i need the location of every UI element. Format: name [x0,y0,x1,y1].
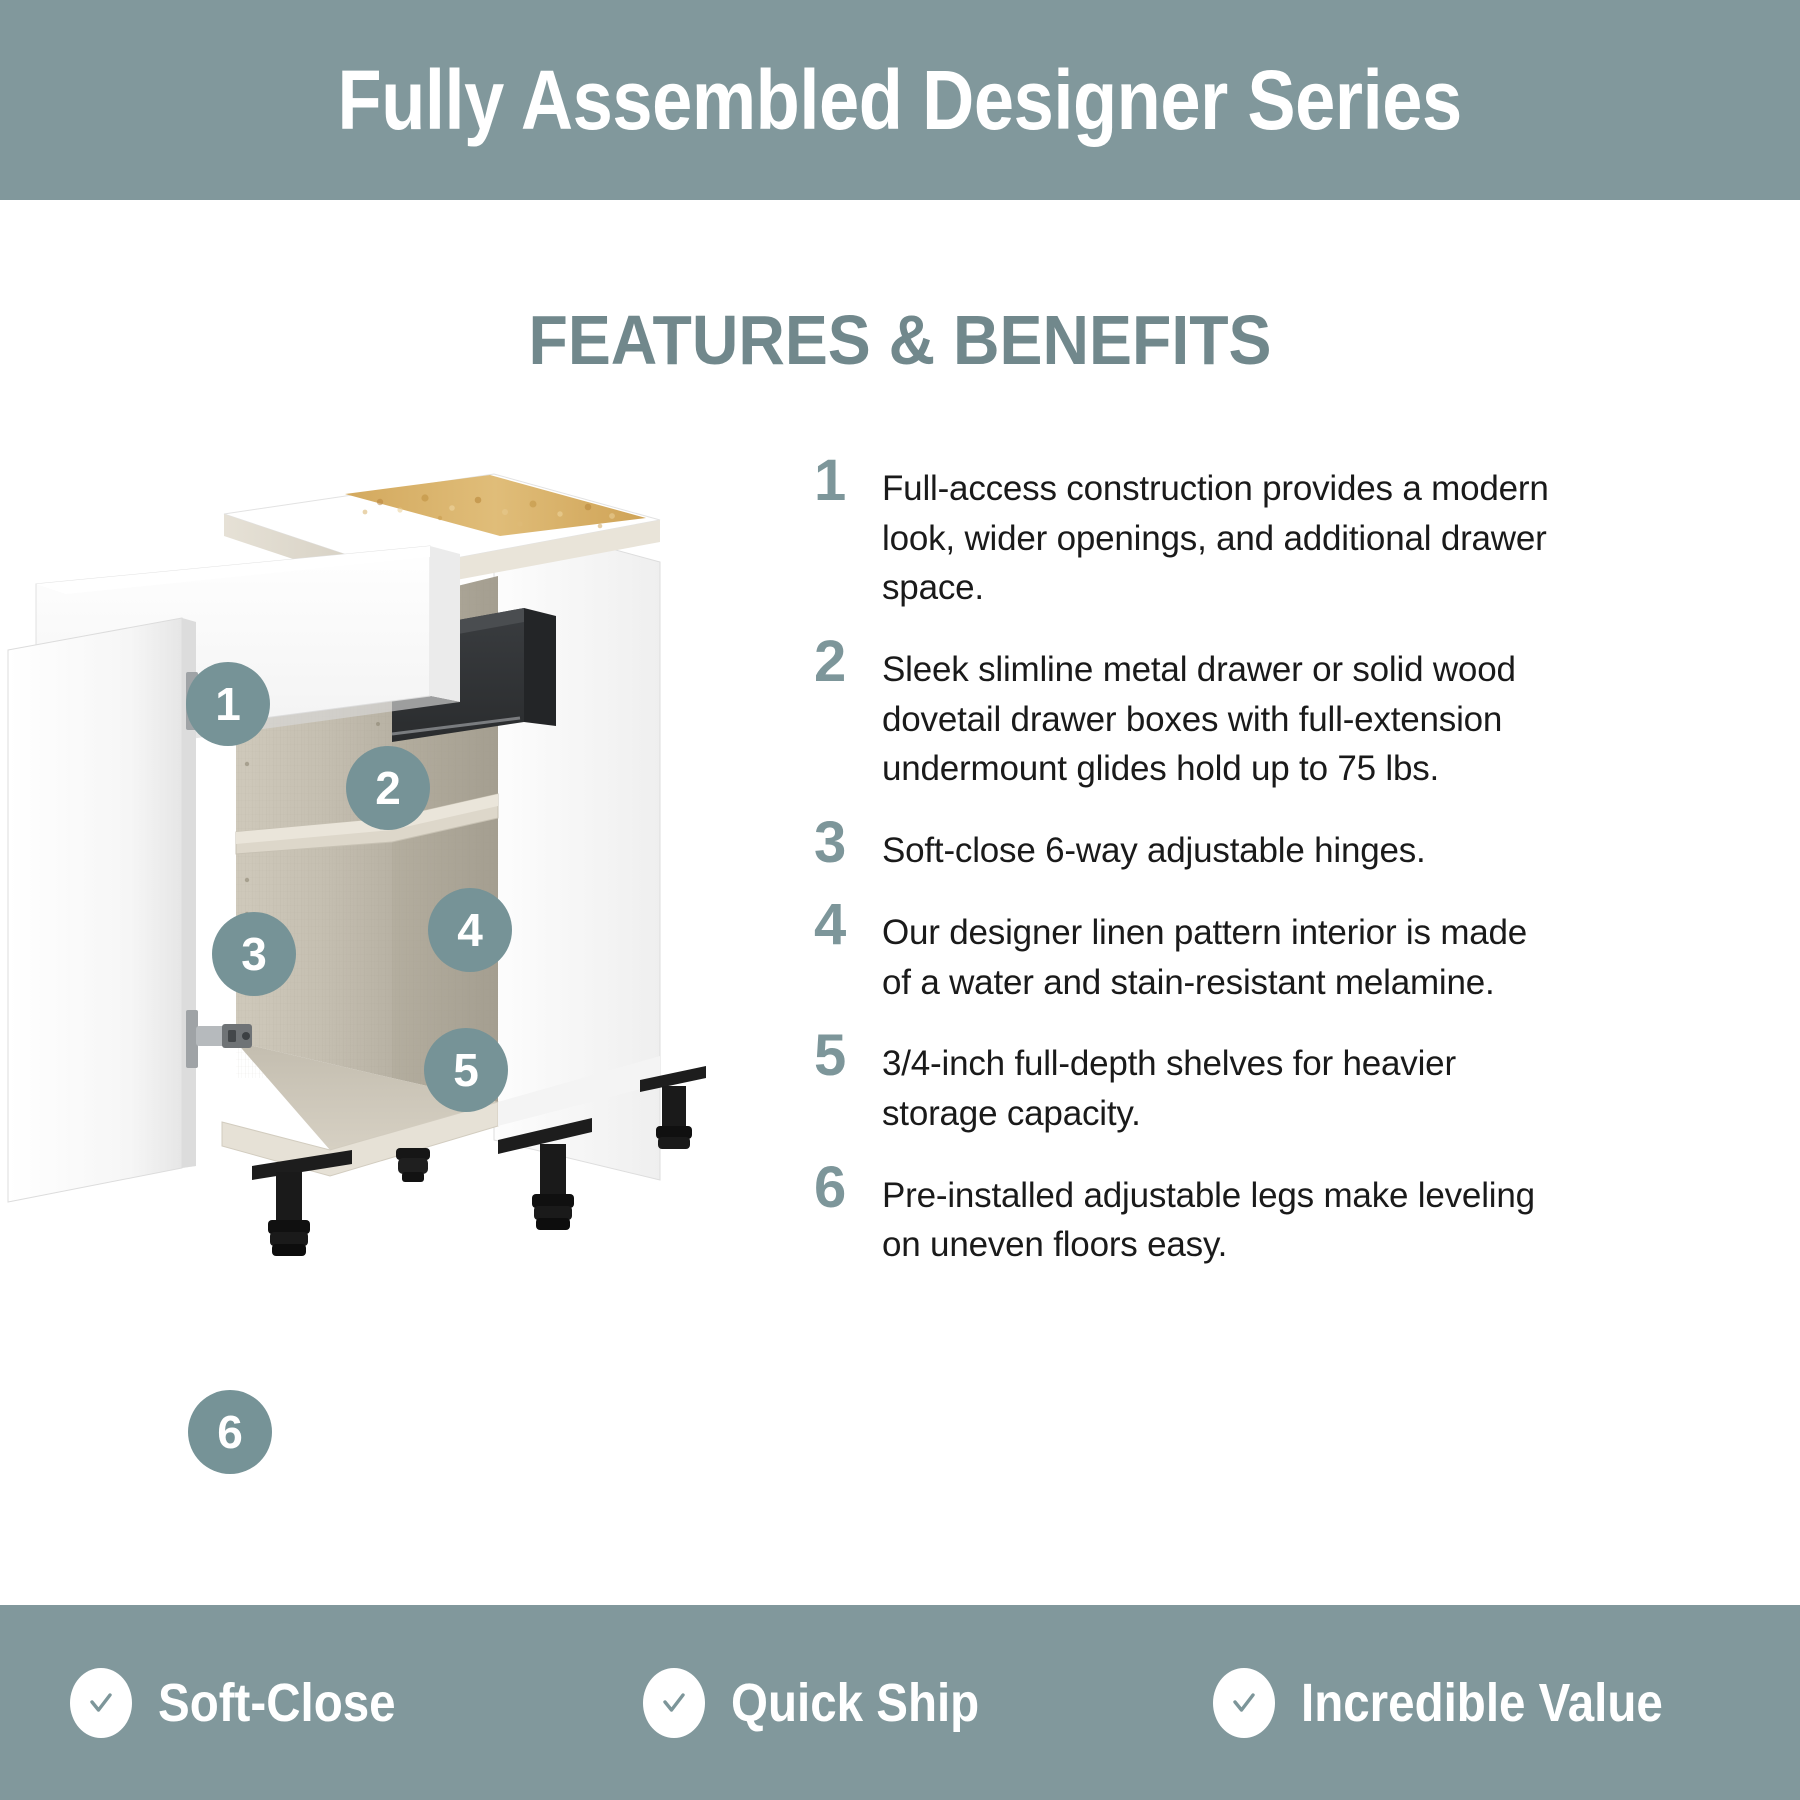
feature-item-2: 2 Sleek slimline metal drawer or solid w… [810,637,1740,794]
feature-text-3: Soft-close 6-way adjustable hinges. [882,818,1562,876]
footer-label-soft-close: Soft-Close [158,1676,396,1730]
page-title: Fully Assembled Designer Series [338,58,1462,142]
metal-drawer-box-back [524,608,556,726]
header-bar: Fully Assembled Designer Series [0,0,1800,200]
callout-badge-3: 3 [212,912,296,996]
callout-badge-6: 6 [188,1390,272,1474]
check-circle-icon [643,1668,705,1738]
section-heading: FEATURES & BENEFITS [72,300,1728,380]
feature-number-3: 3 [810,818,882,868]
drawer-front-right-edge [430,546,460,702]
feature-text-2: Sleek slimline metal drawer or solid woo… [882,637,1562,794]
feature-number-6: 6 [810,1163,882,1213]
feature-item-1: 1 Full-access construction provides a mo… [810,456,1740,613]
callout-badge-2: 2 [346,746,430,830]
feature-text-4: Our designer linen pattern interior is m… [882,900,1562,1007]
feature-item-3: 3 Soft-close 6-way adjustable hinges. [810,818,1740,876]
footer-bar: Soft-Close Quick Ship Incredible Value [0,1605,1800,1800]
content-row: 1 2 3 4 5 6 1 Full-access construction p… [0,450,1800,1370]
footer-item-soft-close: Soft-Close [70,1668,623,1738]
feature-text-1: Full-access construction provides a mode… [882,456,1562,613]
footer-label-quick-ship: Quick Ship [731,1676,979,1730]
feature-number-2: 2 [810,637,882,687]
feature-number-1: 1 [810,456,882,506]
callout-badge-5: 5 [424,1028,508,1112]
cabinet-door [8,618,182,1202]
feature-text-5: 3/4-inch full-depth shelves for heavier … [882,1031,1562,1138]
cabinet-render [0,450,800,1370]
footer-label-incredible-value: Incredible Value [1301,1676,1663,1730]
adjustable-leg-center [396,1148,430,1182]
check-circle-icon [1213,1668,1275,1738]
main-content: FEATURES & BENEFITS [0,200,1800,1605]
features-list: 1 Full-access construction provides a mo… [810,450,1800,1270]
feature-item-5: 5 3/4-inch full-depth shelves for heavie… [810,1031,1740,1138]
feature-text-6: Pre-installed adjustable legs make level… [882,1163,1562,1270]
feature-item-6: 6 Pre-installed adjustable legs make lev… [810,1163,1740,1270]
cabinet-illustration: 1 2 3 4 5 6 [0,450,800,1370]
check-circle-icon [70,1668,132,1738]
footer-item-quick-ship: Quick Ship [623,1668,1176,1738]
footer-item-incredible-value: Incredible Value [1177,1668,1730,1738]
feature-number-4: 4 [810,900,882,950]
feature-item-4: 4 Our designer linen pattern interior is… [810,900,1740,1007]
feature-number-5: 5 [810,1031,882,1081]
callout-badge-1: 1 [186,662,270,746]
marketing-infographic: Fully Assembled Designer Series FEATURES… [0,0,1800,1800]
adjustable-leg-front-left [252,1150,352,1256]
callout-badge-4: 4 [428,888,512,972]
